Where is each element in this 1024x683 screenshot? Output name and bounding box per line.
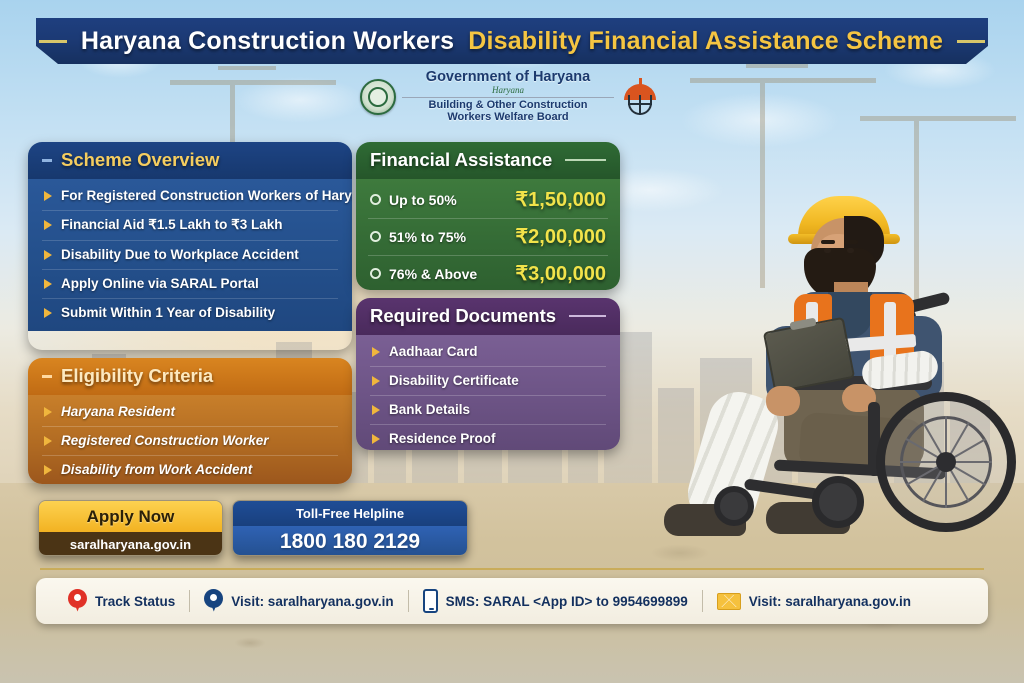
gov-divider [402, 97, 614, 98]
list-item-label: Haryana Resident [61, 404, 175, 419]
list-item-label: Disability from Work Accident [61, 462, 252, 477]
helpline-label: Toll-Free Helpline [296, 506, 404, 521]
financial-assistance-panel: Financial Assistance Up to 50% ₹1,50,000… [356, 142, 620, 290]
title-left-dash [39, 40, 67, 43]
infographic-poster: Haryana Construction Workers Disability … [0, 0, 1024, 683]
title-right-dash [957, 40, 985, 43]
gov-line-1: Government of Haryana [402, 70, 614, 86]
bullet-triangle-icon [44, 250, 52, 260]
apply-now-label: Apply Now [87, 507, 175, 527]
header-rule-icon [569, 315, 606, 317]
list-item: Bank Details [356, 395, 620, 424]
bullet-triangle-icon [44, 220, 52, 230]
bullet-triangle-icon [44, 407, 52, 417]
list-item: Aadhaar Card [356, 337, 620, 366]
list-item: Disability Certificate [356, 366, 620, 395]
apply-now-label-area[interactable]: Apply Now [39, 501, 222, 532]
page-title-highlight: Disability Financial Assistance Scheme [468, 27, 943, 56]
poster-title-banner: Haryana Construction Workers Disability … [36, 18, 988, 64]
location-pin-icon [204, 589, 223, 614]
header-rule-icon [565, 159, 606, 161]
header-dash-icon [42, 159, 52, 162]
bullet-triangle-icon [44, 308, 52, 318]
list-item: Submit Within 1 Year of Disability [28, 298, 352, 327]
bullet-triangle-icon [44, 436, 52, 446]
location-pin-icon [68, 589, 87, 614]
list-item-label: Financial Aid ₹1.5 Lakh to ₹3 Lakh [61, 217, 282, 233]
email-visit-item[interactable]: Visit: saralharyana.gov.in [703, 593, 925, 610]
government-header: Government of Haryana Haryana Building &… [360, 66, 660, 128]
email-visit-label: Visit: saralharyana.gov.in [749, 594, 911, 609]
eligibility-title: Eligibility Criteria [61, 365, 213, 387]
disabled-construction-worker-illustration [648, 186, 1008, 554]
track-status-item[interactable]: Track Status [54, 589, 189, 614]
list-item: Financial Aid ₹1.5 Lakh to ₹3 Lakh [28, 210, 352, 240]
haryana-emblem-icon [360, 79, 396, 115]
mobile-phone-icon [423, 589, 438, 613]
footer-contact-bar: Track Status Visit: saralharyana.gov.in … [36, 578, 988, 624]
list-item: For Registered Construction Workers of H… [28, 181, 352, 210]
bullet-triangle-icon [44, 191, 52, 201]
sms-label: SMS: SARAL <App ID> to 9954699899 [446, 594, 688, 609]
star-bullet-icon [370, 231, 381, 242]
required-documents-panel: Required Documents Aadhaar Card Disabili… [356, 298, 620, 450]
apply-now-url: saralharyana.gov.in [70, 537, 191, 552]
list-item-label: Disability Certificate [389, 373, 519, 388]
financial-assistance-header: Financial Assistance [356, 142, 620, 179]
bullet-triangle-icon [44, 465, 52, 475]
bullet-triangle-icon [372, 405, 380, 415]
gov-line-2: Building & Other Construction [402, 100, 614, 112]
list-item: Haryana Resident [28, 397, 352, 426]
assistance-amount: ₹1,50,000 [515, 187, 606, 212]
eligibility-header: Eligibility Criteria [28, 358, 352, 395]
helpline-label-area: Toll-Free Helpline [233, 501, 467, 526]
list-item-label: For Registered Construction Workers of H… [61, 188, 352, 203]
sms-item[interactable]: SMS: SARAL <App ID> to 9954699899 [409, 589, 702, 613]
required-documents-header: Required Documents [356, 298, 620, 335]
required-documents-title: Required Documents [370, 305, 556, 327]
list-item-label: Aadhaar Card [389, 344, 478, 359]
list-item: Disability from Work Accident [28, 455, 352, 484]
helpline-number-area[interactable]: 1800 180 2129 [233, 526, 467, 556]
list-item-label: Disability Due to Workplace Accident [61, 247, 299, 262]
track-status-label: Track Status [95, 594, 175, 609]
list-item-label: Registered Construction Worker [61, 433, 269, 448]
list-item: Disability Due to Workplace Accident [28, 240, 352, 269]
visit-website-item[interactable]: Visit: saralharyana.gov.in [190, 589, 407, 614]
page-title-primary: Haryana Construction Workers [81, 27, 454, 56]
toll-free-helpline-card[interactable]: Toll-Free Helpline 1800 180 2129 [232, 500, 468, 556]
list-item: Apply Online via SARAL Portal [28, 269, 352, 298]
star-bullet-icon [370, 194, 381, 205]
header-dash-icon [42, 375, 52, 378]
disability-range-label: 51% to 75% [389, 229, 515, 245]
assistance-amount: ₹2,00,000 [515, 224, 606, 249]
table-row: 76% & Above ₹3,00,000 [356, 255, 620, 290]
list-item-label: Residence Proof [389, 431, 496, 446]
bullet-triangle-icon [44, 279, 52, 289]
scheme-overview-header: Scheme Overview [28, 142, 352, 179]
bullet-triangle-icon [372, 376, 380, 386]
envelope-icon [717, 593, 741, 610]
scheme-overview-panel: Scheme Overview For Registered Construct… [28, 142, 352, 350]
list-item-label: Bank Details [389, 402, 470, 417]
visit-website-label: Visit: saralharyana.gov.in [231, 594, 393, 609]
financial-assistance-title: Financial Assistance [370, 149, 552, 171]
list-item-label: Submit Within 1 Year of Disability [61, 305, 275, 320]
welfare-board-logo-icon [620, 78, 660, 116]
list-item-label: Apply Online via SARAL Portal [61, 276, 259, 291]
apply-now-button[interactable]: Apply Now saralharyana.gov.in [38, 500, 223, 556]
list-item: Registered Construction Worker [28, 426, 352, 455]
bullet-triangle-icon [372, 434, 380, 444]
star-bullet-icon [370, 268, 381, 279]
table-row: 51% to 75% ₹2,00,000 [356, 218, 620, 255]
assistance-amount: ₹3,00,000 [515, 261, 606, 286]
gov-signature: Haryana [402, 86, 614, 96]
apply-now-url-area[interactable]: saralharyana.gov.in [39, 532, 222, 556]
table-row: Up to 50% ₹1,50,000 [356, 181, 620, 218]
eligibility-criteria-panel: Eligibility Criteria Haryana Resident Re… [28, 358, 352, 484]
footer-divider [40, 568, 984, 570]
bullet-triangle-icon [372, 347, 380, 357]
disability-range-label: Up to 50% [389, 192, 515, 208]
disability-range-label: 76% & Above [389, 266, 515, 282]
helpline-number: 1800 180 2129 [280, 530, 420, 554]
list-item: Residence Proof [356, 424, 620, 450]
scheme-overview-title: Scheme Overview [61, 149, 219, 171]
gov-line-3: Workers Welfare Board [402, 112, 614, 124]
